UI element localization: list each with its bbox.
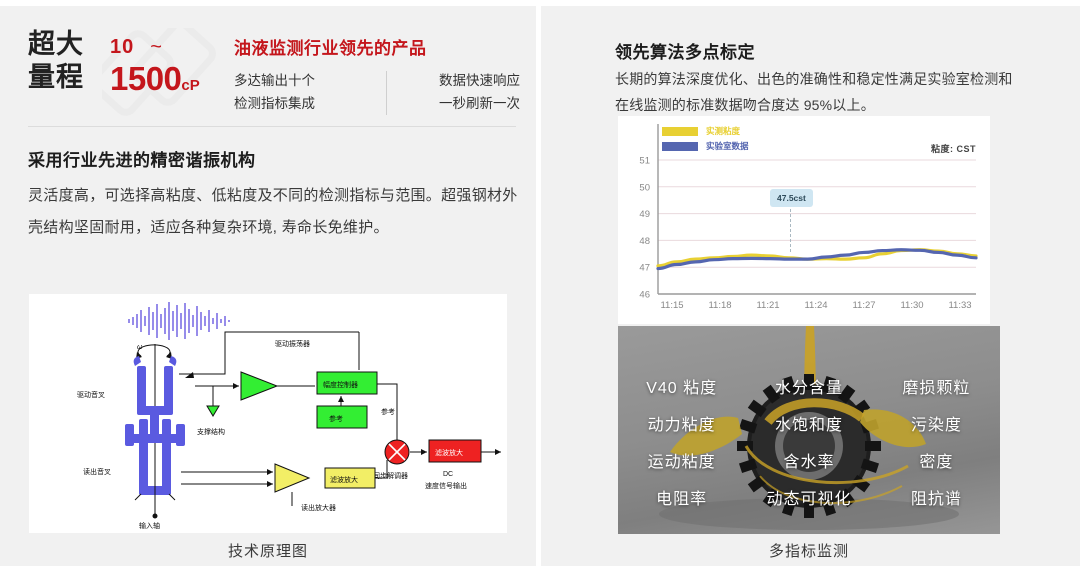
legend-swatch-measured [662,127,698,136]
photo-label-col-3: 磨损颗粒污染度密度阻抗谱 [873,326,1000,534]
photo-label-col-1: V40 粘度动力粘度运动粘度电阻率 [618,326,745,534]
diagram-caption: 技术原理图 [29,540,507,561]
range-max: 1500cP [110,60,230,105]
section-body: 灵活度高，可选择高粘度、低粘度及不同的检测指标与范围。超强钢材外壳结构坚固耐用，… [28,180,518,244]
photo-label-columns: V40 粘度动力粘度运动粘度电阻率 水分含量水饱和度含水率动态可视化 磨损颗粒污… [618,326,1000,534]
chart-y-tick: 49 [639,209,650,220]
chart-y-tick: 46 [639,290,650,301]
hero-column-divider [386,71,387,115]
multi-indicator-photo: V40 粘度动力粘度运动粘度电阻率 水分含量水饱和度含水率动态可视化 磨损颗粒污… [618,326,1000,534]
chart-x-tick: 11:24 [804,300,827,311]
range-tilde: ~ [150,36,163,58]
lower-filter-amp-label: 滤波放大 [330,475,358,484]
right-panel: 领先算法多点标定 长期的算法深度优化、出色的准确性和稳定性满足实验室检测和在线监… [541,6,1080,566]
chart-x-tick: 11:18 [708,300,731,311]
photo-label-item: 动态可视化 [745,481,872,518]
readout-amplifier-label: 读出放大器 [301,503,336,512]
legend-label-measured: 实测粘度 [706,125,740,137]
photo-label-item: V40 粘度 [618,370,745,407]
chart-y-tick: 51 [639,156,650,167]
left-panel: 超大 量程 10~ 1500cP 油液监测行业领先的产品 [0,6,536,566]
photo-label-col-2: 水分含量水饱和度含水率动态可视化 [745,326,872,534]
photo-label-item: 阻抗谱 [873,481,1000,518]
photo-label-item: 电阻率 [618,481,745,518]
photo-label-item: 污染度 [873,407,1000,444]
photo-label-item: 磨损颗粒 [873,370,1000,407]
chart-annotation: 47.5cst [770,189,813,207]
photo-label-item: 水饱和度 [745,407,872,444]
waveform-icon [129,302,229,340]
chart-unit-label: 粘度: CST [931,142,976,155]
diagram-svg: ω 驱动音叉 [29,294,507,533]
legend-item-measured: 实测粘度 [662,125,749,137]
section-title: 采用行业先进的精密谐振机构 [28,146,256,171]
legend-swatch-lab [662,142,698,151]
legend-label-lab: 实验室数据 [706,140,749,152]
photo-caption: 多指标监测 [618,540,1000,561]
chart-y-tick: 48 [639,236,650,247]
chart-y-tick: 47 [639,263,650,274]
reference-label-1: 参考 [329,414,343,423]
dc-output-label-2: 速度信号输出 [425,481,467,490]
drive-amplifier-shape [241,372,277,400]
readout-amplifier-shape [275,464,309,492]
legend-item-lab: 实验室数据 [662,140,749,152]
hero-feature-1-line1: 多达输出十个 [234,69,384,92]
hero-feature-1-line2: 检测指标集成 [234,92,384,115]
chart-y-tick: 50 [639,182,650,193]
hero-section: 超大 量程 10~ 1500cP 油液监测行业领先的产品 [0,6,536,118]
range-unit: cP [181,77,199,94]
hero-title: 超大 量程 [28,28,84,94]
chart-x-tick: 11:30 [900,300,923,311]
viscosity-chart: 实测粘度 实验室数据 粘度: CST 47.5cst 5150494847461… [618,116,990,324]
drive-oscillator-label: 驱动振荡器 [275,339,310,348]
range-block: 10~ 1500cP [110,36,230,110]
right-section-title: 领先算法多点标定 [615,38,755,63]
photo-label-item: 运动粘度 [618,444,745,481]
chart-legend: 实测粘度 实验室数据 [662,125,749,155]
chart-x-tick: 11:15 [660,300,683,311]
hero-headline: 油液监测行业领先的产品 [234,34,524,59]
right-section-body: 长期的算法深度优化、出色的准确性和稳定性满足实验室检测和在线监测的标准数据吻合度… [615,66,1015,118]
hero-feature-col-1: 多达输出十个 检测指标集成 [234,69,384,115]
dc-output-label-1: DC [443,471,453,478]
hero-title-line1: 超大 [28,28,84,61]
output-filter-amp-label: 滤波放大 [435,448,463,457]
chart-annotation-stem [790,209,791,252]
reference-label-2: 参考 [381,407,395,416]
hero-right-block: 油液监测行业领先的产品 多达输出十个 检测指标集成 数据快速响应 一秒刷新一次 [234,34,524,115]
photo-label-item: 密度 [873,444,1000,481]
hero-feature-2-line2: 一秒刷新一次 [384,92,520,115]
drive-tuning-fork-label: 驱动音叉 [77,390,105,399]
range-min: 10~ [110,36,230,58]
range-min-value: 10 [110,36,134,58]
chart-x-tick: 11:21 [756,300,779,311]
chart-x-tick: 11:33 [948,300,971,311]
amplitude-controller-label: 幅度控制器 [323,380,358,389]
input-shaft-label: 输入轴 [139,521,160,530]
chart-x-tick: 11:27 [852,300,875,311]
page-root: 超大 量程 10~ 1500cP 油液监测行业领先的产品 [0,0,1080,579]
sync-demodulator-label: 同步解调器 [373,471,408,480]
hero-separator [28,126,516,127]
hero-feature-2-line1: 数据快速响应 [384,69,520,92]
hero-feature-col-2: 数据快速响应 一秒刷新一次 [384,69,524,115]
hero-title-line2: 量程 [28,61,84,94]
photo-label-item: 含水率 [745,444,872,481]
photo-label-item: 动力粘度 [618,407,745,444]
support-structure-label: 支撑结构 [197,427,225,436]
range-max-value: 1500 [110,60,181,97]
technical-diagram: ω 驱动音叉 [29,294,507,533]
hero-feature-columns: 多达输出十个 检测指标集成 数据快速响应 一秒刷新一次 [234,69,524,115]
chart-series-line [658,250,976,269]
readout-tuning-fork-label: 读出音叉 [83,467,111,476]
photo-label-item: 水分含量 [745,370,872,407]
